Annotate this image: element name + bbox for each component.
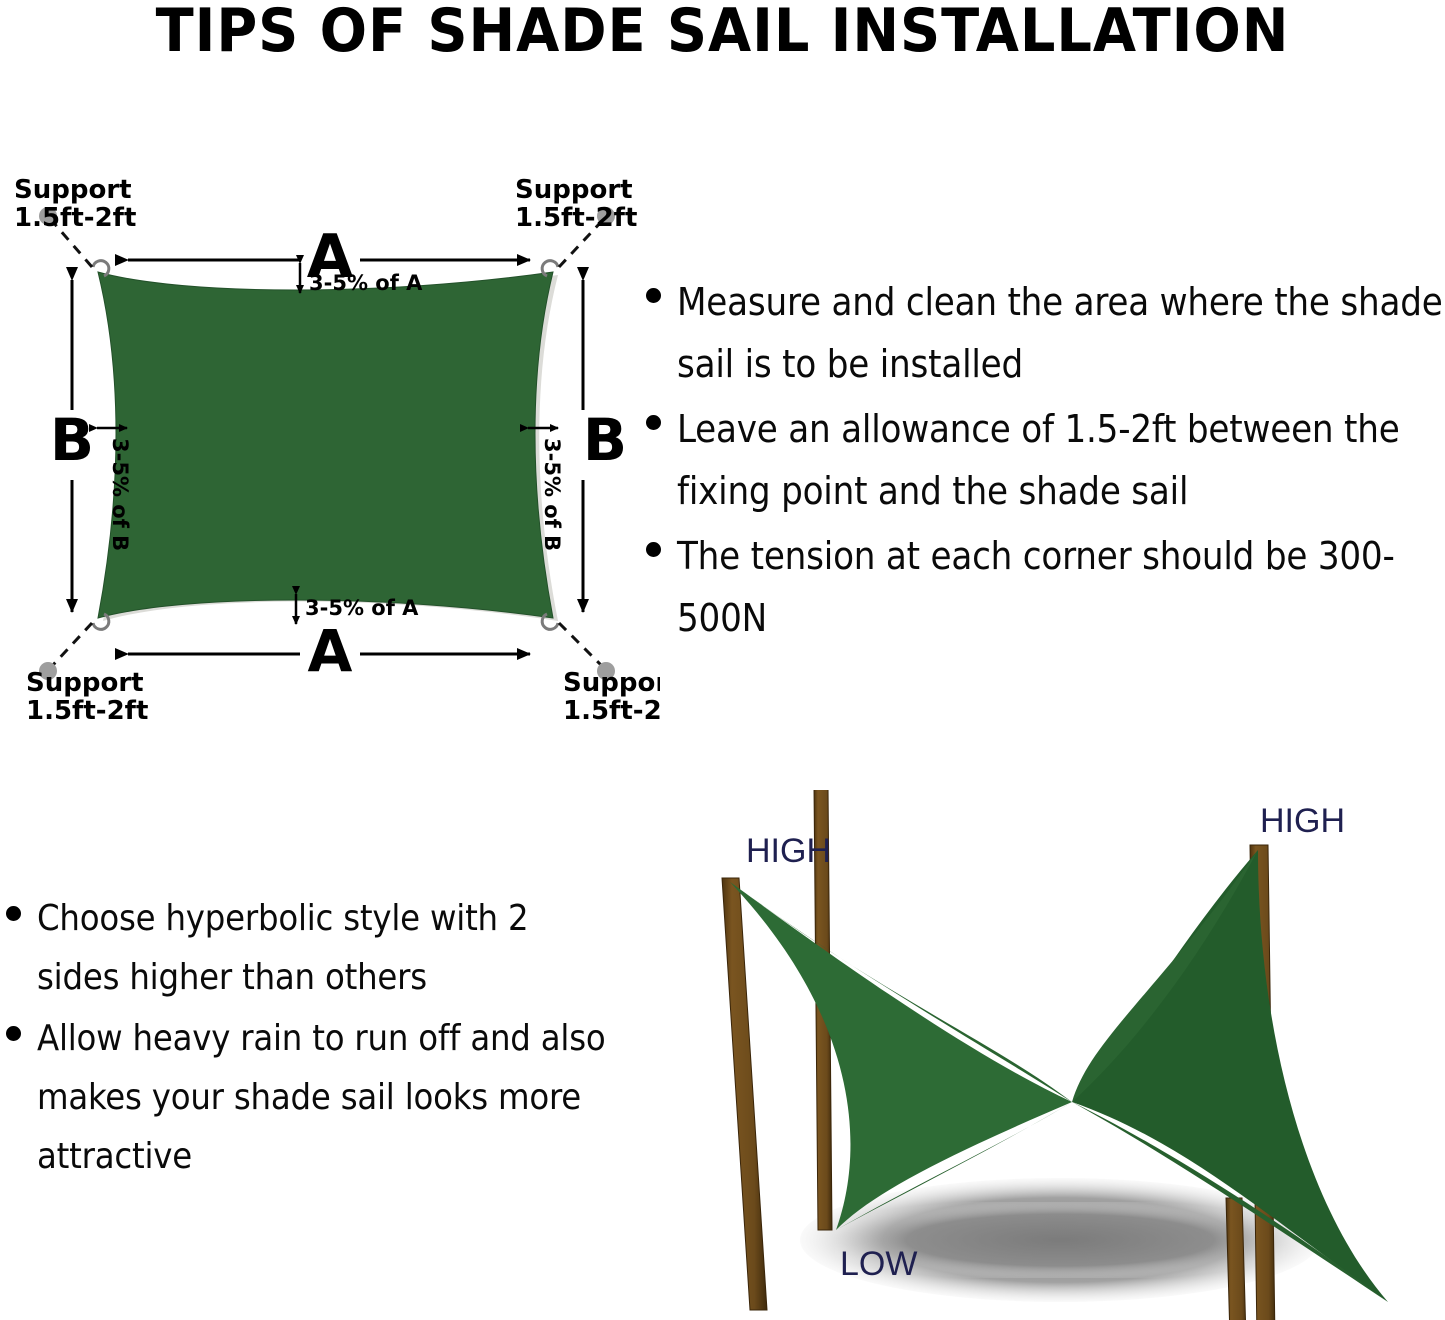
list-item: Allow heavy rain to run off and also mak…: [6, 1010, 616, 1186]
sail-surface-front: [730, 882, 1072, 1230]
bullet-dot-icon: [6, 906, 21, 921]
svg-text:Support: Support: [26, 668, 144, 698]
dimension-label-width-bottom: A: [308, 617, 353, 685]
list-item-text: Measure and clean the area where the sha…: [677, 272, 1445, 395]
post-label-high-right: HIGH: [1260, 802, 1345, 840]
curve-note-top: 3-5% of A: [309, 271, 423, 295]
svg-text:1.5ft-2ft: 1.5ft-2ft: [26, 696, 148, 726]
svg-text:Support: Support: [14, 175, 132, 205]
curve-note-bottom: 3-5% of A: [305, 596, 419, 620]
hyperbolic-shade-sail-illustration: HIGH HIGH LOW LOW: [660, 790, 1445, 1320]
dimension-label-height-right: B: [583, 406, 627, 474]
post-high-left: [722, 878, 767, 1310]
dimension-label-height-left: B: [50, 406, 94, 474]
list-item-text: Choose hyperbolic style with 2 sides hig…: [37, 890, 616, 1007]
support-caption-bottom-left: Support 1.5ft-2ft: [26, 668, 148, 726]
shade-sail-body: [98, 272, 553, 618]
list-item: The tension at each corner should be 300…: [646, 526, 1445, 649]
bullet-dot-icon: [646, 415, 661, 430]
support-caption-bottom-right: Support 1.5ft-2ft: [563, 668, 660, 726]
svg-text:Support: Support: [563, 668, 660, 698]
bullet-dot-icon: [6, 1026, 21, 1041]
rectangular-shade-sail-dimension-diagram: A A B B 3-5% of A 3-5% of A 3-5% of B 3-…: [0, 160, 660, 730]
svg-text:1.5ft-2ft: 1.5ft-2ft: [14, 203, 136, 233]
list-item-text: Leave an allowance of 1.5-2ft between th…: [677, 399, 1445, 522]
bullet-dot-icon: [646, 542, 661, 557]
list-item: Choose hyperbolic style with 2 sides hig…: [6, 890, 616, 1007]
bullet-dot-icon: [646, 288, 661, 303]
svg-text:Support: Support: [515, 175, 633, 205]
curve-note-right: 3-5% of B: [540, 438, 564, 551]
svg-text:1.5ft-2ft: 1.5ft-2ft: [515, 203, 637, 233]
post-label-high-left: HIGH: [746, 832, 831, 870]
svg-text:1.5ft-2ft: 1.5ft-2ft: [563, 696, 660, 726]
list-item: Leave an allowance of 1.5-2ft between th…: [646, 399, 1445, 522]
installation-tips-list-left: Choose hyperbolic style with 2 sides hig…: [6, 890, 616, 1189]
list-item: Measure and clean the area where the sha…: [646, 272, 1445, 395]
post-label-low-left: LOW: [840, 1245, 917, 1283]
installation-tips-list-right: Measure and clean the area where the sha…: [646, 272, 1445, 653]
page-title: TIPS OF SHADE SAIL INSTALLATION: [51, 0, 1395, 66]
support-caption-top-left: Support 1.5ft-2ft: [14, 175, 136, 233]
curve-note-left: 3-5% of B: [108, 438, 132, 551]
list-item-text: Allow heavy rain to run off and also mak…: [37, 1010, 616, 1186]
list-item-text: The tension at each corner should be 300…: [677, 526, 1445, 649]
support-caption-top-right: Support 1.5ft-2ft: [515, 175, 637, 233]
